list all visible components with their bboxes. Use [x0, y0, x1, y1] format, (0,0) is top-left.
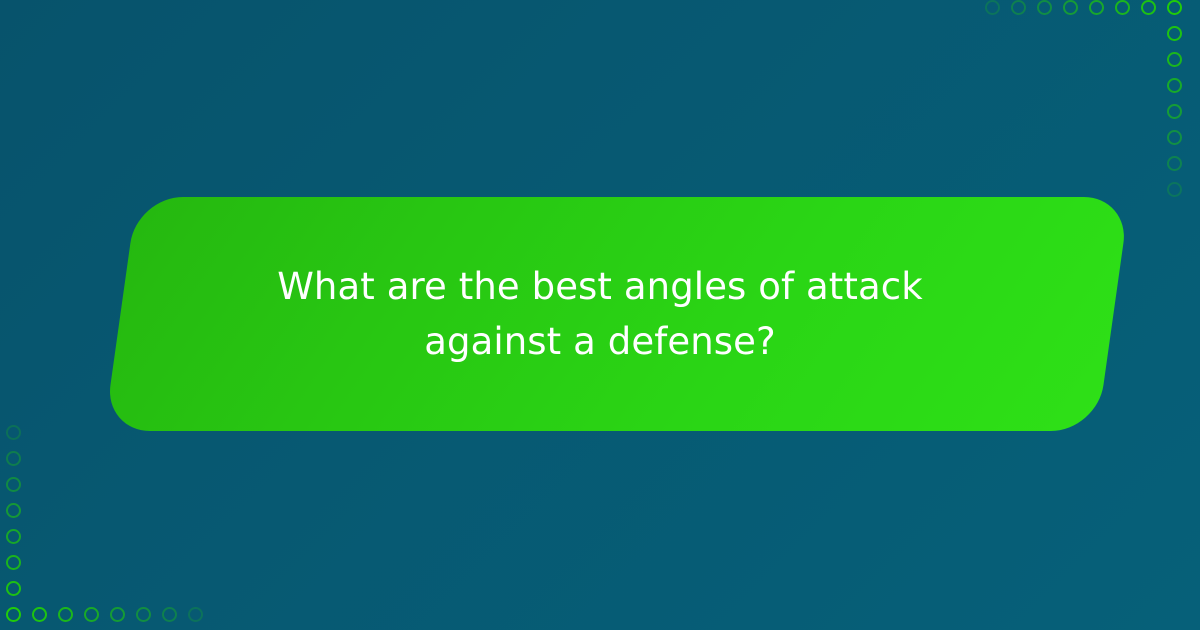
- decorative-circle-icon: [1115, 0, 1130, 15]
- decorative-circle-icon: [985, 0, 1000, 15]
- decorative-circle-icon: [6, 503, 21, 518]
- decorative-circle-icon: [32, 607, 47, 622]
- decorative-circle-icon: [1167, 52, 1182, 67]
- decorative-circle-icon: [1011, 0, 1026, 15]
- decorative-circle-icon: [6, 607, 21, 622]
- decorative-dots-top-right: [985, 0, 1200, 215]
- decorative-circle-icon: [6, 581, 21, 596]
- decorative-circle-icon: [58, 607, 73, 622]
- decorative-circle-icon: [6, 451, 21, 466]
- decorative-circle-icon: [136, 607, 151, 622]
- question-card-canvas: What are the best angles of attack again…: [0, 0, 1200, 630]
- decorative-circle-icon: [162, 607, 177, 622]
- decorative-circle-icon: [84, 607, 99, 622]
- banner-text-container: What are the best angles of attack again…: [0, 197, 1200, 431]
- decorative-circle-icon: [188, 607, 203, 622]
- question-banner: What are the best angles of attack again…: [0, 197, 1200, 431]
- decorative-circle-icon: [110, 607, 125, 622]
- decorative-circle-icon: [1141, 0, 1156, 15]
- decorative-circle-icon: [1089, 0, 1104, 15]
- decorative-circle-icon: [6, 529, 21, 544]
- decorative-circle-icon: [1167, 78, 1182, 93]
- decorative-circle-icon: [1037, 0, 1052, 15]
- decorative-circle-icon: [6, 555, 21, 570]
- decorative-circle-icon: [1167, 0, 1182, 15]
- decorative-dots-bottom-left: [0, 415, 215, 630]
- decorative-circle-icon: [1167, 182, 1182, 197]
- decorative-circle-icon: [1063, 0, 1078, 15]
- decorative-circle-icon: [1167, 26, 1182, 41]
- decorative-circle-icon: [1167, 104, 1182, 119]
- decorative-circle-icon: [1167, 130, 1182, 145]
- decorative-circle-icon: [6, 477, 21, 492]
- question-title: What are the best angles of attack again…: [205, 259, 995, 370]
- decorative-circle-icon: [1167, 156, 1182, 171]
